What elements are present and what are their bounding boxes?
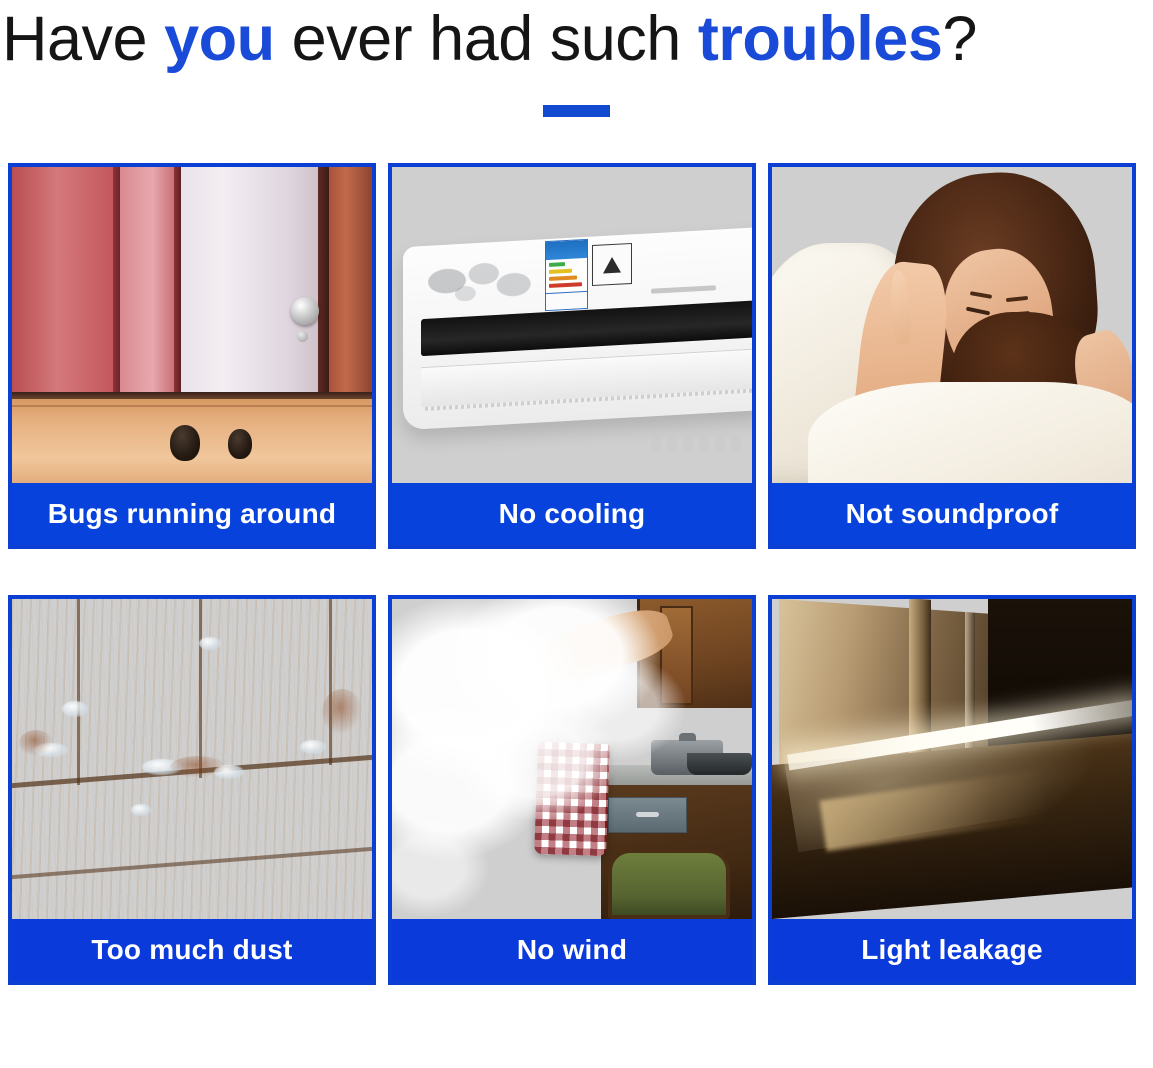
door-seam-2 bbox=[174, 167, 181, 399]
trouble-card-caption: No wind bbox=[392, 919, 752, 981]
dust-lint-6 bbox=[300, 740, 326, 754]
energy-bar-red bbox=[549, 281, 582, 287]
trouble-grid-row-2: Too much dust No wind Light leaka bbox=[0, 595, 1153, 985]
door-panel-white bbox=[181, 167, 318, 399]
energy-bar-green bbox=[549, 261, 565, 266]
kitchen-drawer bbox=[608, 797, 687, 832]
trouble-card-caption: Too much dust bbox=[12, 919, 372, 981]
door-knob-icon bbox=[291, 297, 319, 325]
door-with-bugs-photo bbox=[12, 167, 372, 483]
woman-hand-left bbox=[890, 270, 913, 344]
floor-stain-3 bbox=[170, 756, 226, 778]
door-panel-wood-right bbox=[329, 167, 372, 399]
dust-lint-7 bbox=[131, 804, 151, 816]
door-seam-3 bbox=[318, 167, 329, 399]
woman-covering-ears-photo bbox=[772, 167, 1132, 483]
page-title-segment-1: Have bbox=[2, 4, 164, 74]
floorboard-seam-vertical-1 bbox=[77, 599, 80, 785]
trouble-card-too-much-dust[interactable]: Too much dust bbox=[8, 595, 376, 985]
cooking-pan bbox=[687, 753, 752, 775]
trouble-card-bugs[interactable]: Bugs running around bbox=[8, 163, 376, 549]
trouble-card-caption: No cooling bbox=[392, 483, 752, 545]
light-under-door-photo bbox=[772, 599, 1132, 919]
red-checkered-towel bbox=[534, 742, 610, 856]
blue-accent-bar bbox=[543, 105, 610, 117]
energy-label-sticker bbox=[545, 239, 588, 311]
door-panel-red-left bbox=[12, 167, 113, 399]
energy-bar-orange bbox=[549, 275, 577, 280]
trouble-grid-row-1: Bugs running around No bbox=[0, 163, 1153, 549]
page-title-accent-you: you bbox=[164, 4, 275, 74]
trouble-card-caption: Light leakage bbox=[772, 919, 1132, 981]
certification-label-sticker bbox=[592, 243, 632, 286]
trouble-card-no-wind[interactable]: No wind bbox=[388, 595, 756, 985]
bug-icon-large bbox=[170, 425, 200, 461]
certification-mark-icon bbox=[603, 257, 621, 274]
divider-container bbox=[0, 105, 1153, 117]
trouble-card-caption: Not soundproof bbox=[772, 483, 1132, 545]
smoky-kitchen-photo bbox=[392, 599, 752, 919]
page-title-segment-2: ever had such bbox=[275, 4, 698, 74]
dusty-floorboards-photo bbox=[12, 599, 372, 919]
pillow-bottom bbox=[808, 382, 1132, 483]
page-title-accent-troubles: troubles bbox=[698, 4, 943, 74]
page-title: Have you ever had such troubles? bbox=[0, 0, 1153, 78]
bug-icon-small bbox=[228, 429, 252, 459]
energy-label-footer bbox=[546, 291, 587, 309]
air-conditioner-photo bbox=[392, 167, 752, 483]
door-panel-pink bbox=[120, 167, 174, 399]
photo-watermark bbox=[651, 435, 745, 451]
energy-label-header bbox=[546, 240, 587, 260]
trouble-card-no-cooling[interactable]: No cooling bbox=[388, 163, 756, 549]
door-seam-1 bbox=[113, 167, 120, 399]
door-floor-shadow bbox=[12, 392, 372, 399]
page-title-segment-3: ? bbox=[942, 4, 977, 74]
ac-floral-pattern bbox=[424, 252, 539, 312]
energy-bar-yellow bbox=[549, 268, 572, 273]
floorboard-seam-vertical-3 bbox=[329, 599, 332, 765]
trouble-card-light-leakage[interactable]: Light leakage bbox=[768, 595, 1136, 985]
trouble-card-caption: Bugs running around bbox=[12, 483, 372, 545]
floorboard-seam-vertical-2 bbox=[199, 599, 202, 778]
trouble-card-not-soundproof[interactable]: Not soundproof bbox=[768, 163, 1136, 549]
floor-stain-1 bbox=[322, 689, 362, 735]
green-chair bbox=[608, 849, 730, 919]
